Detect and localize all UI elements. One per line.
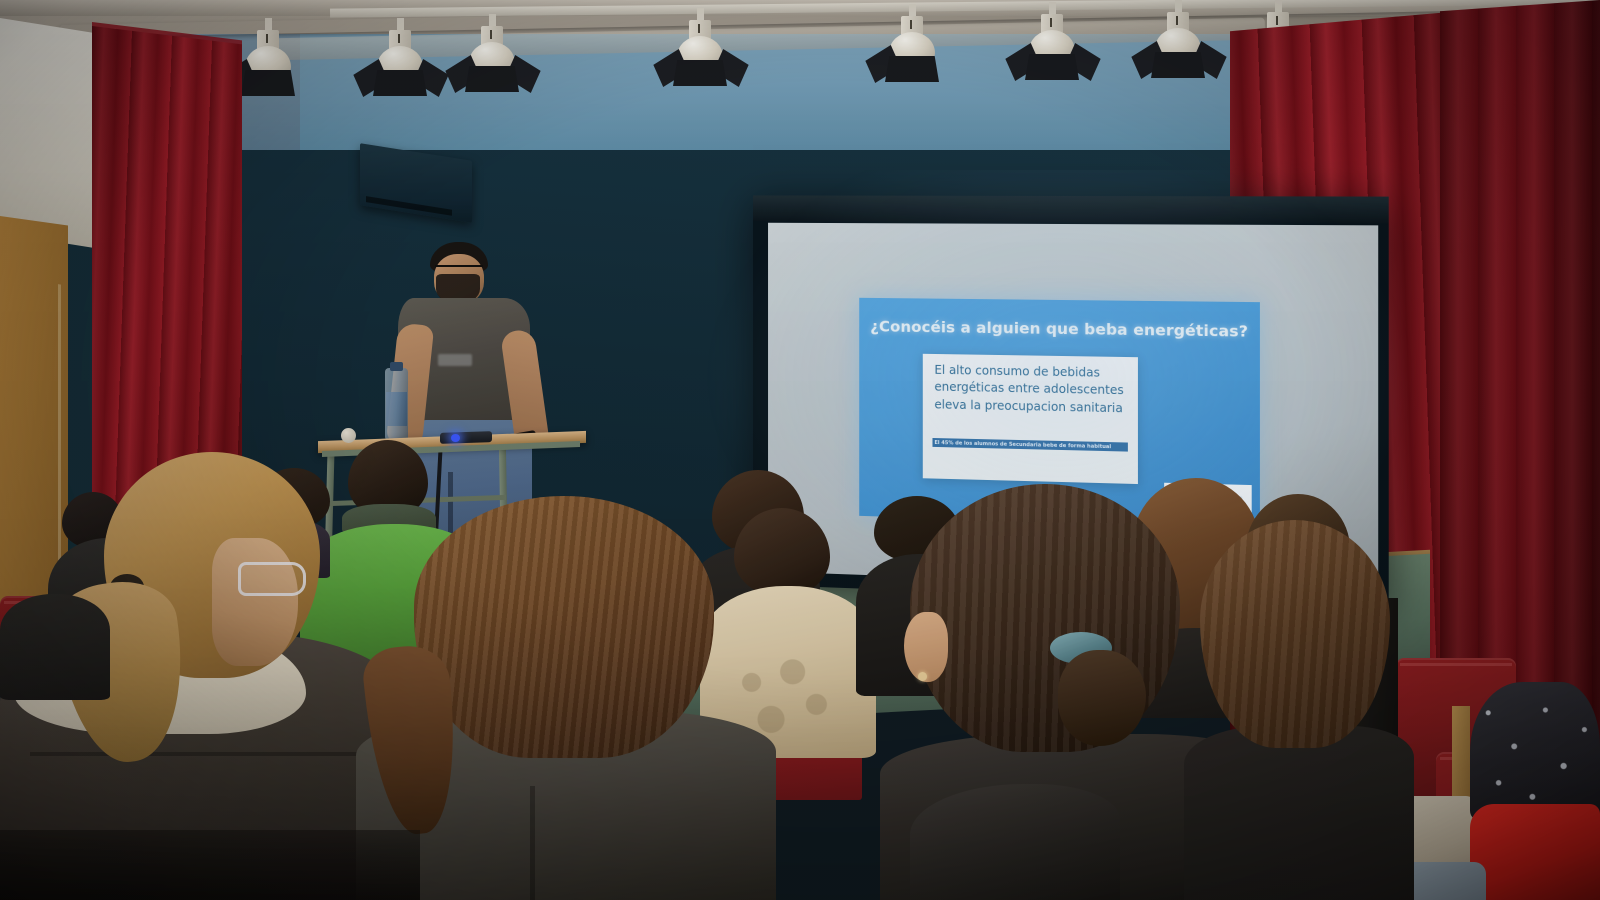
chair-wooden-arm	[1452, 706, 1470, 802]
jacket-seam	[30, 752, 370, 756]
curtain-far-right	[1440, 0, 1600, 771]
left-wall-panel	[0, 18, 92, 248]
light-barndoor-icon	[465, 66, 519, 92]
presenter-shirt-logo	[438, 354, 472, 366]
screen-top-lip	[753, 195, 1389, 223]
slide-caption: El 45% de los alumnos de Secundaria bebe…	[932, 438, 1127, 452]
shoulder-fold	[910, 784, 1120, 900]
light-barndoor-icon	[1025, 54, 1079, 80]
torso	[0, 594, 110, 700]
foreground-shadow-bottom	[0, 830, 420, 900]
auditorium-scene: ¿Conocéis a alguien que beba energéticas…	[0, 0, 1600, 900]
light-barndoor-icon	[373, 70, 427, 96]
audience-right-black-top-woman	[1184, 520, 1414, 900]
sparkle-jacket-person	[1470, 682, 1600, 822]
light-barndoor-icon	[1151, 52, 1205, 78]
light-barndoor-icon	[241, 70, 295, 96]
audience-far-left-dark-head	[0, 560, 110, 700]
glasses-icon	[238, 562, 306, 596]
slide-text-card: El alto consumo de bebidas energéticas e…	[923, 354, 1138, 484]
head	[414, 496, 714, 758]
red-garment-person	[1470, 804, 1600, 900]
earring-icon	[918, 672, 927, 681]
ear	[904, 612, 948, 682]
top	[1184, 726, 1414, 900]
water-bottle	[385, 368, 408, 440]
light-barndoor-icon	[673, 60, 727, 86]
jacket-seam	[530, 786, 535, 900]
bottle-cap	[390, 362, 403, 371]
face-profile	[212, 538, 298, 666]
slide-body-text: El alto consumo de bebidas energéticas e…	[934, 362, 1129, 418]
head	[1200, 520, 1390, 748]
bun	[1058, 650, 1146, 746]
presenter-glasses	[435, 265, 483, 273]
light-barndoor-icon	[885, 56, 939, 82]
slide-title: ¿Conocéis a alguien que beba energéticas…	[859, 317, 1260, 340]
